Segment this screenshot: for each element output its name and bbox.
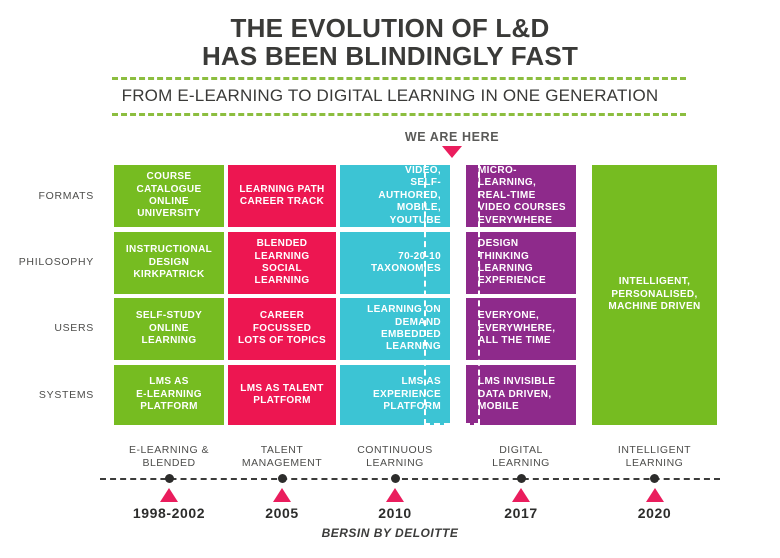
cell-text: LEARNING ONDEMANDEMBEDDEDLEARNING	[340, 304, 450, 354]
timeline-era-3: CONTINUOUSLEARNING	[325, 444, 465, 470]
cell-text: LMS ASE-LEARNINGPLATFORM	[114, 376, 224, 413]
timeline-marker-4	[512, 488, 530, 502]
matrix-cell-col3-r4: LMS ASEXPERIENCEPLATFORM	[340, 365, 450, 425]
row-label-philosophy: PHILOSOPHY	[16, 256, 94, 268]
timeline-marker-5	[646, 488, 664, 502]
timeline-era-5: INTELLIGENTLEARNING	[585, 444, 725, 470]
timeline-year-4: 2017	[451, 505, 591, 521]
cell-text: EVERYONE,EVERYWHERE,ALL THE TIME	[466, 310, 576, 347]
matrix-cell-col2-r2: BLENDED LEARNINGSOCIAL LEARNING	[228, 232, 336, 294]
matrix-cell-col2-r4: LMS AS TALENTPLATFORM	[228, 365, 336, 425]
matrix-cell-col3-r1: VIDEO,SELF-AUTHORED,MOBILE,YOUTUBE	[340, 165, 450, 227]
matrix-cell-col4-r4: LMS INVISIBLEDATA DRIVEN,MOBILE	[466, 365, 576, 425]
cell-text: INSTRUCTIONALDESIGNKIRKPATRICK	[114, 244, 224, 281]
cell-text: SELF-STUDYONLINE LEARNING	[114, 310, 224, 347]
cell-text: LMS AS TALENTPLATFORM	[228, 383, 336, 408]
cell-text: COURSECATALOGUEONLINEUNIVERSITY	[114, 171, 224, 221]
timeline-year-3: 2010	[325, 505, 465, 521]
infographic-canvas: THE EVOLUTION OF L&D HAS BEEN BLINDINGLY…	[0, 0, 780, 558]
matrix-cell-col1-r2: INSTRUCTIONALDESIGNKIRKPATRICK	[114, 232, 224, 294]
cell-text: MICRO-LEARNING,REAL-TIMEVIDEO COURSESEVE…	[466, 165, 576, 227]
matrix-cell-col4-r2: DESIGN THINKINGLEARNINGEXPERIENCE	[466, 232, 576, 294]
matrix-cell-col3-r3: LEARNING ONDEMANDEMBEDDEDLEARNING	[340, 298, 450, 360]
cell-text: LMS ASEXPERIENCEPLATFORM	[340, 376, 450, 413]
cell-text: VIDEO,SELF-AUTHORED,MOBILE,YOUTUBE	[340, 165, 450, 227]
cell-text: LEARNING PATHCAREER TRACK	[228, 184, 336, 209]
footer-credit: BERSIN BY DELOITTE	[0, 526, 780, 540]
cell-text: LMS INVISIBLEDATA DRIVEN,MOBILE	[466, 376, 576, 413]
matrix-cell-col4-r3: EVERYONE,EVERYWHERE,ALL THE TIME	[466, 298, 576, 360]
timeline-dot-3	[391, 474, 400, 483]
timeline-marker-2	[273, 488, 291, 502]
matrix-cell-col2-r3: CAREER FOCUSSEDLOTS OF TOPICS	[228, 298, 336, 360]
timeline-dot-1	[165, 474, 174, 483]
timeline-axis	[100, 478, 720, 480]
timeline-marker-1	[160, 488, 178, 502]
cell-text: 70-20-10TAXONOMIES	[340, 251, 450, 276]
evolution-matrix: FORMATSPHILOSOPHYUSERSSYSTEMSCOURSECATAL…	[0, 0, 780, 558]
timeline-dot-5	[650, 474, 659, 483]
matrix-cell-col4-r1: MICRO-LEARNING,REAL-TIMEVIDEO COURSESEVE…	[466, 165, 576, 227]
cell-text: INTELLIGENT,PERSONALISED,MACHINE DRIVEN	[592, 276, 717, 313]
matrix-cell-col1-r1: COURSECATALOGUEONLINEUNIVERSITY	[114, 165, 224, 227]
row-label-users: USERS	[16, 322, 94, 334]
row-label-formats: FORMATS	[16, 190, 94, 202]
cell-text: CAREER FOCUSSEDLOTS OF TOPICS	[228, 310, 336, 347]
matrix-cell-col1-r4: LMS ASE-LEARNINGPLATFORM	[114, 365, 224, 425]
row-label-systems: SYSTEMS	[16, 389, 94, 401]
matrix-cell-col3-r2: 70-20-10TAXONOMIES	[340, 232, 450, 294]
matrix-cell-col5-merged: INTELLIGENT,PERSONALISED,MACHINE DRIVEN	[592, 165, 717, 425]
timeline-year-5: 2020	[585, 505, 725, 521]
cell-text: BLENDED LEARNINGSOCIAL LEARNING	[228, 238, 336, 288]
timeline-dot-2	[278, 474, 287, 483]
matrix-cell-col1-r3: SELF-STUDYONLINE LEARNING	[114, 298, 224, 360]
timeline-era-4: DIGITALLEARNING	[451, 444, 591, 470]
timeline-dot-4	[517, 474, 526, 483]
matrix-cell-col2-r1: LEARNING PATHCAREER TRACK	[228, 165, 336, 227]
cell-text: DESIGN THINKINGLEARNINGEXPERIENCE	[466, 238, 576, 288]
timeline-marker-3	[386, 488, 404, 502]
